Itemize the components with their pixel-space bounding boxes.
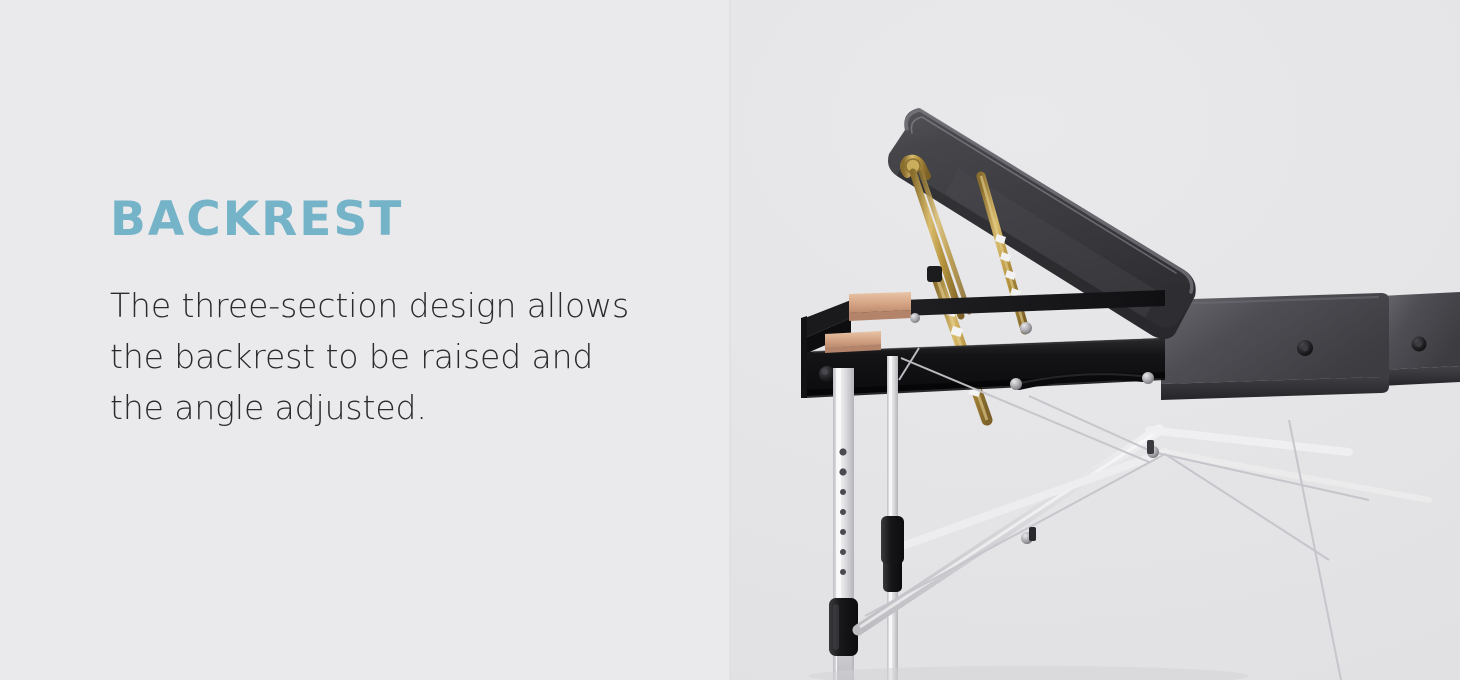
ratchet-pivot xyxy=(1020,322,1032,334)
body-line: the angle adjusted. xyxy=(110,382,680,433)
frame-rivet xyxy=(910,313,920,323)
handle-rivet xyxy=(1142,372,1154,384)
middle-cushion xyxy=(1161,293,1389,400)
panel-divider xyxy=(729,0,731,680)
page-title: BACKREST xyxy=(110,196,680,243)
wood-block-lower xyxy=(825,331,881,353)
body-line: The three-section design allows xyxy=(110,280,680,331)
foot-cushion xyxy=(1380,292,1460,386)
wood-block-upper xyxy=(849,292,911,321)
product-photo xyxy=(729,0,1460,680)
tension-cable xyxy=(865,348,1369,680)
handle-rivet xyxy=(1010,378,1022,390)
feature-banner: BACKREST The three-section design allows… xyxy=(0,0,1460,680)
body-copy: The three-section design allows the back… xyxy=(110,280,680,433)
ratchet-catch xyxy=(927,266,942,282)
leg-lock-collar xyxy=(881,516,904,564)
text-block: BACKREST The three-section design allows… xyxy=(110,196,680,433)
massage-table-illustration xyxy=(729,0,1460,680)
body-line: the backrest to be raised and xyxy=(110,331,680,382)
text-panel: BACKREST The three-section design allows… xyxy=(0,0,729,680)
